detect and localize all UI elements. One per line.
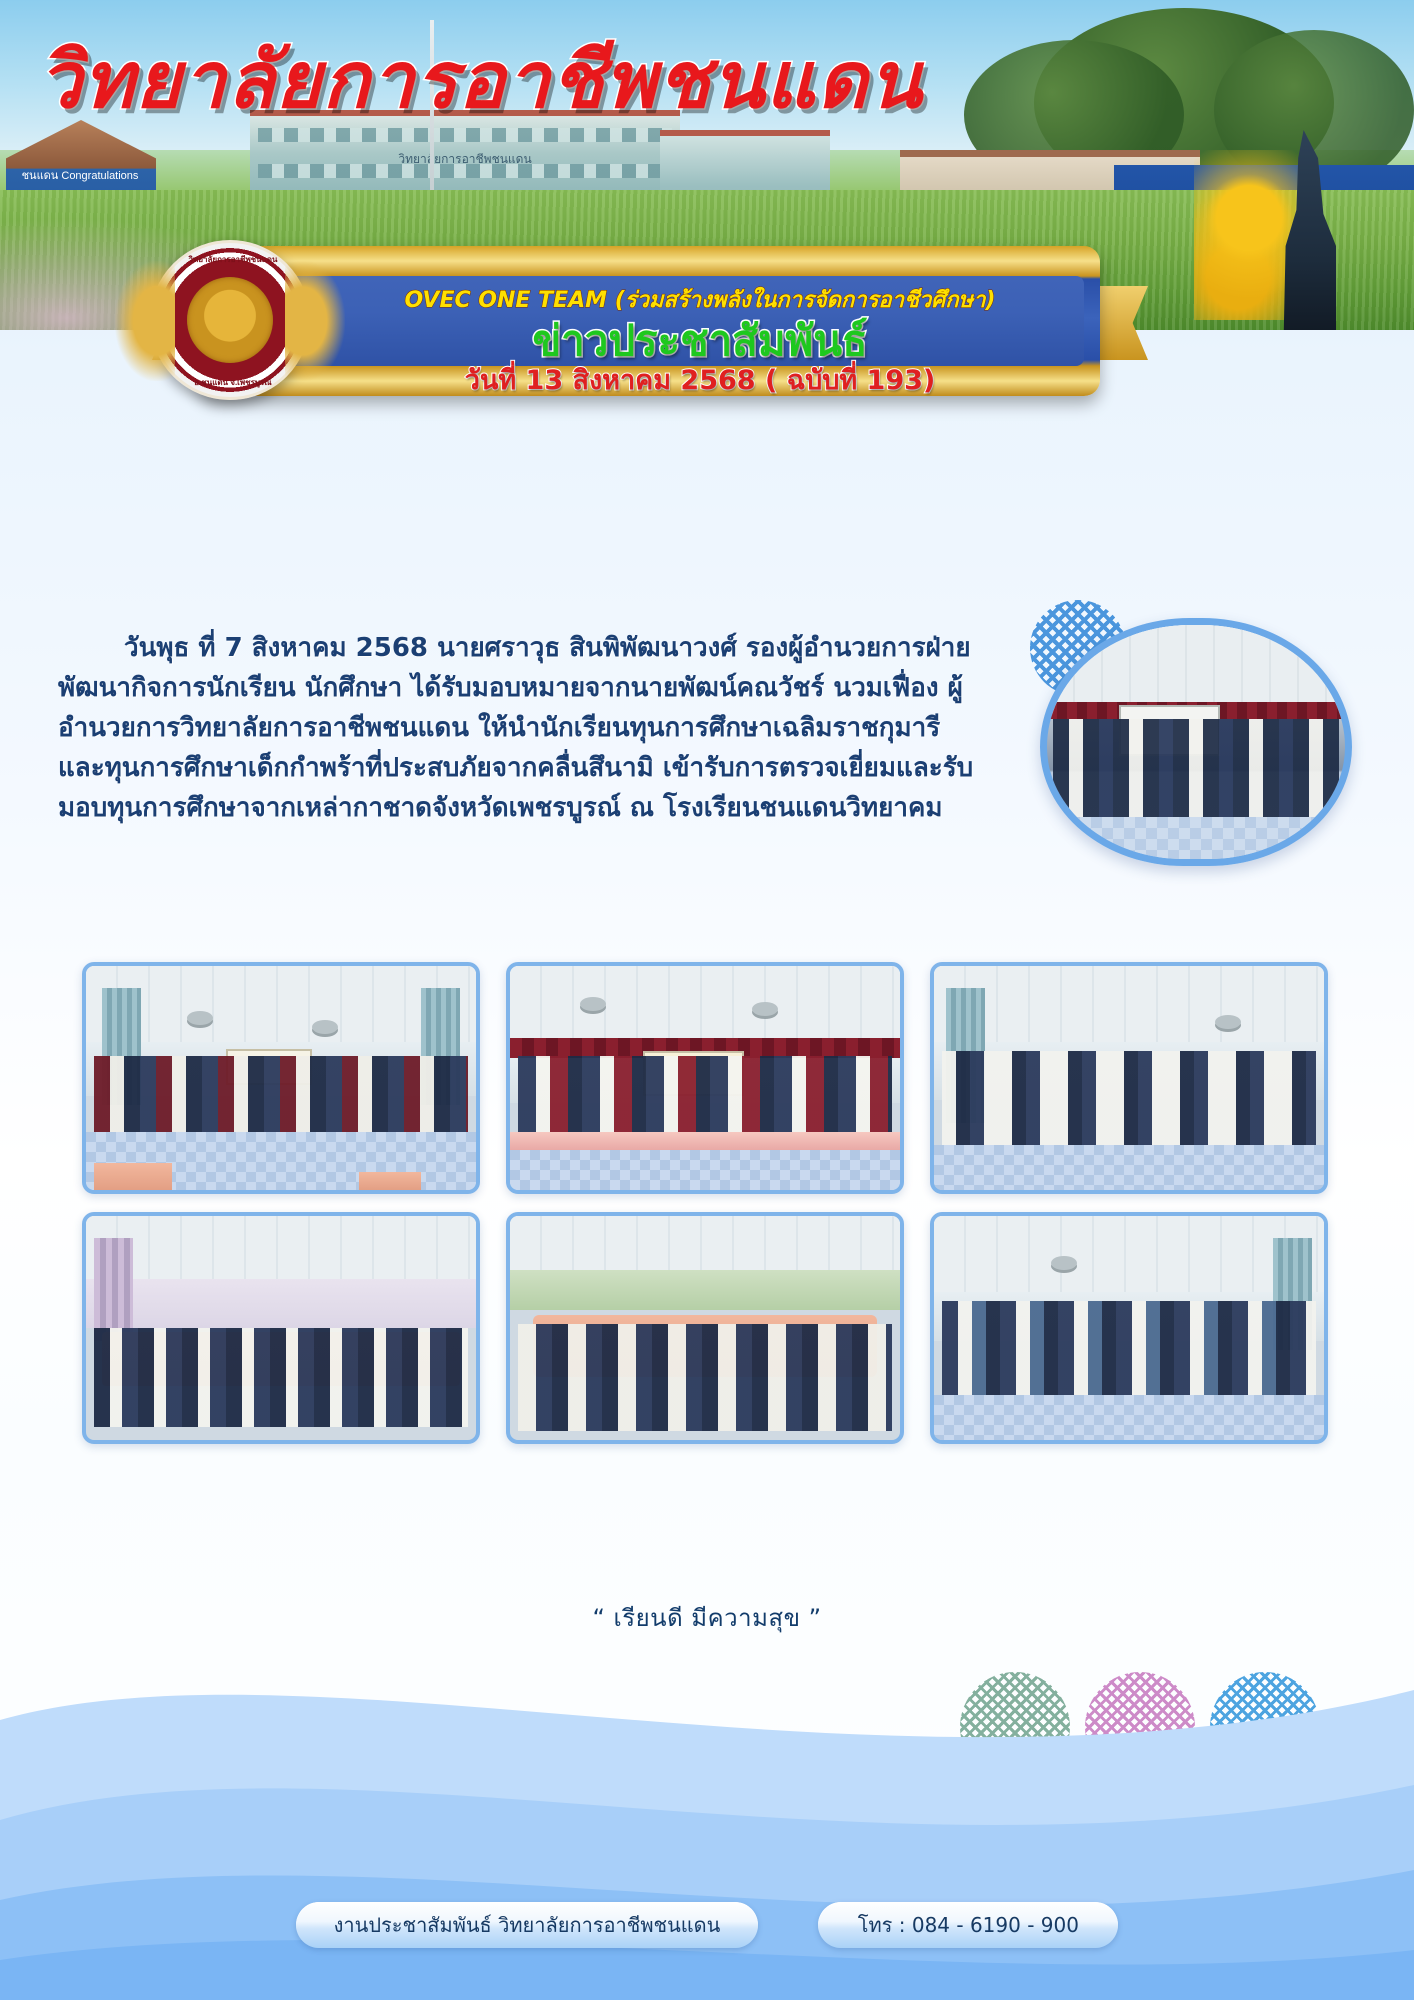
- hero-photo: [1040, 618, 1352, 866]
- photo-grid: [82, 962, 1330, 1444]
- photo-group-of-people: [1053, 719, 1339, 817]
- photo-ceiling: [510, 1216, 900, 1274]
- ceiling-fan-icon: [312, 1020, 338, 1034]
- college-title: วิทยาลัยการอาชีพชนแดน: [38, 18, 923, 142]
- photo-table: [94, 1163, 172, 1190]
- seal-ring-bottom-text: อ.ชนแดน จ.เพชรบูรณ์: [153, 376, 313, 389]
- photo-tiled-floor: [1047, 817, 1345, 859]
- photo-tiled-floor: [934, 1145, 1324, 1190]
- seal-scroll-left-decor: [115, 261, 175, 381]
- building-sign-text: วิทยาลัยการอาชีพชนแดน: [310, 150, 620, 169]
- footer-phone-pill: โทร : 084 - 6190 - 900: [818, 1902, 1118, 1948]
- photo-ceiling: [86, 1216, 476, 1279]
- seal-emblem-icon: [187, 277, 273, 363]
- ceiling-fan-icon: [187, 1011, 213, 1025]
- photo-ceiling: [86, 966, 476, 1042]
- photo-window-view: [510, 1270, 900, 1310]
- school-seal-icon: วิทยาลัยการอาชีพชนแดน อ.ชนแดน จ.เพชรบูรณ…: [150, 240, 310, 400]
- photo-row-of-people: [942, 1051, 1316, 1145]
- photo-seated-people: [94, 1328, 468, 1427]
- seal-scroll-right-decor: [285, 261, 345, 381]
- photo-ceiling: [510, 966, 900, 1042]
- ribbon-date-issue: วันที่ 13 สิงหาคม 2568 ( ฉบับที่ 193): [320, 358, 1080, 401]
- news-poster: วิทยาลัยการอาชีพชนแดน วิทยาลัยการอาชีพชน…: [0, 0, 1414, 2000]
- photo-window-curtain: [94, 1238, 133, 1341]
- photo-ceiling: [934, 966, 1324, 1042]
- footer-office-pill: งานประชาสัมพันธ์ วิทยาลัยการอาชีพชนแดน: [296, 1902, 759, 1948]
- photo-cell: [930, 1212, 1328, 1444]
- photo-ceiling: [1047, 625, 1345, 714]
- photo-row-of-people: [942, 1301, 1316, 1395]
- footer: งานประชาสัมพันธ์ วิทยาลัยการอาชีพชนแดน โ…: [0, 1902, 1414, 1948]
- pavilion-sign-text: ชนแดน Congratulations: [20, 170, 140, 183]
- photo-table: [359, 1172, 421, 1190]
- photo-tiled-floor: [934, 1395, 1324, 1440]
- photo-seated-people: [518, 1324, 892, 1432]
- article-body: วันพุธ ที่ 7 สิงหาคม 2568 นายศราวุธ สินพ…: [58, 628, 988, 828]
- seal-ring-top-text: วิทยาลัยการอาชีพชนแดน: [153, 253, 313, 266]
- photo-ceiling: [934, 1216, 1324, 1292]
- photo-cell: [930, 962, 1328, 1194]
- photo-cell: [506, 1212, 904, 1444]
- photo-cell: [506, 962, 904, 1194]
- photo-cell: [82, 1212, 480, 1444]
- photo-tiled-floor: [510, 1150, 900, 1190]
- photo-row-of-people: [94, 1056, 468, 1132]
- photo-wall: [86, 1279, 476, 1328]
- photo-row-of-people: [518, 1056, 892, 1141]
- photo-cell: [82, 962, 480, 1194]
- ceiling-fan-icon: [752, 1002, 778, 1016]
